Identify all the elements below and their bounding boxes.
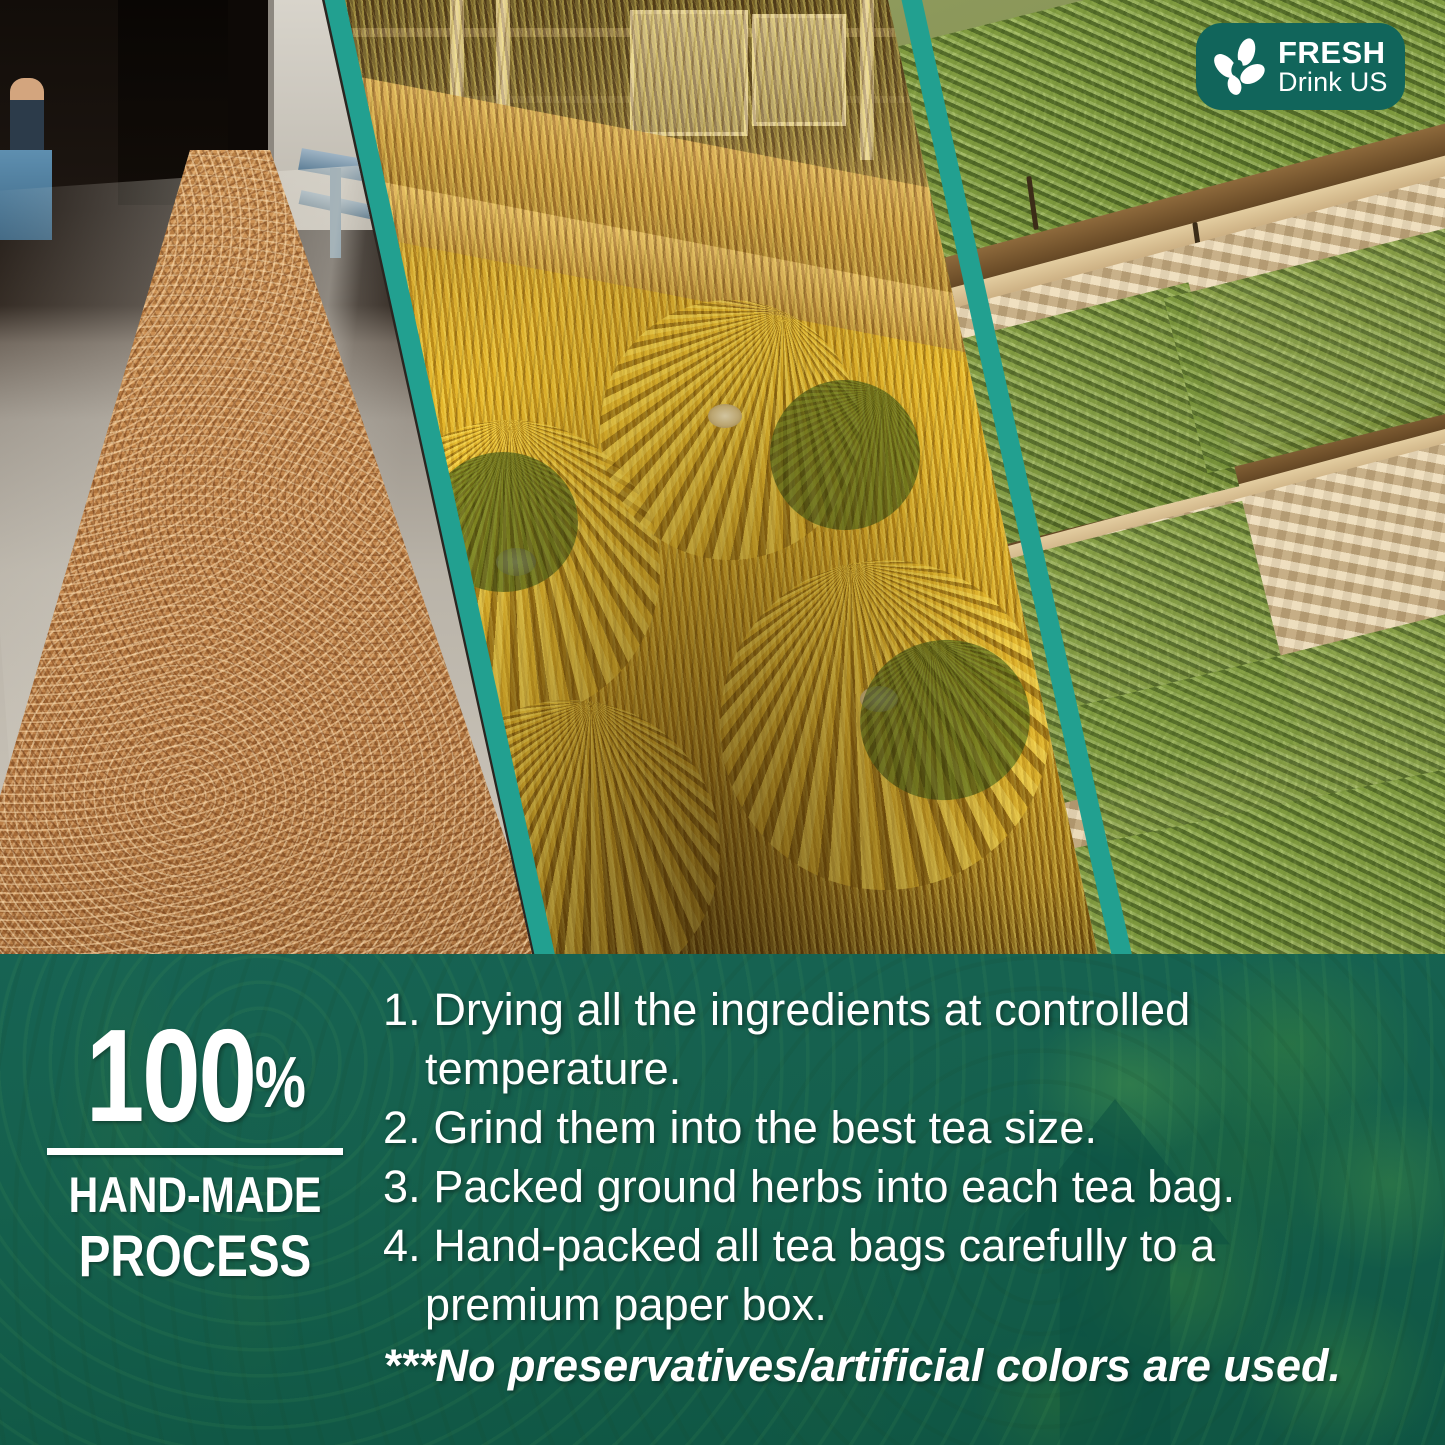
handmade-badge: 100% HAND-MADE PROCESS [40, 1014, 350, 1288]
process-step-3: 3. Packed ground herbs into each tea bag… [383, 1157, 1423, 1216]
process-step-2: 2. Grind them into the best tea size. [383, 1098, 1423, 1157]
handmade-percent-symbol: % [255, 1043, 305, 1123]
process-steps-list: 1. Drying all the ingredients at control… [383, 980, 1423, 1395]
process-step-4-line-2: premium paper box. [383, 1275, 1423, 1334]
handmade-percent: 100% [71, 1014, 319, 1138]
logo-secondary-text: Drink US [1278, 69, 1388, 97]
product-infographic: FRESH Drink US 100% HAND-MADE PROCESS 1.… [0, 0, 1445, 1445]
process-step-1-line-1: 1. Drying all the ingredients at control… [383, 980, 1423, 1039]
leaf-cluster-icon [1208, 35, 1272, 99]
handmade-label-line1: HAND-MADE [68, 1169, 322, 1222]
process-step-4-line-1: 4. Hand-packed all tea bags carefully to… [383, 1216, 1423, 1275]
logo-primary-text: FRESH [1278, 37, 1388, 69]
process-step-1-line-2: temperature. [383, 1039, 1423, 1098]
process-footnote: ***No preservatives/artificial colors ar… [383, 1336, 1423, 1395]
fresh-drink-us-logo: FRESH Drink US [1196, 23, 1405, 110]
handmade-divider-rule [47, 1148, 343, 1155]
handmade-label-line2: PROCESS [68, 1226, 322, 1287]
photo-strip [0, 0, 1445, 954]
handmade-percent-number: 100 [86, 1002, 255, 1149]
process-info-panel: 100% HAND-MADE PROCESS 1. Drying all the… [0, 954, 1445, 1445]
